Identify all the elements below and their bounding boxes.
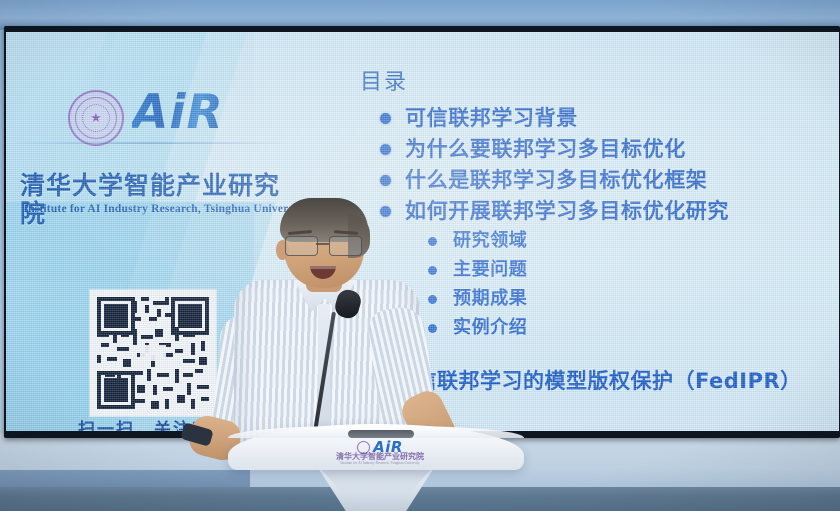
toc-item: 为什么要联邦学习多目标优化 (380, 135, 839, 163)
glasses-bridge (316, 243, 329, 245)
toc-item: 如何开展联邦学习多目标优化研究 (380, 197, 839, 225)
slide-final-line: 可信联邦学习的模型版权保护（FedIPR） (394, 366, 802, 396)
toc-subitem: 主要问题 (428, 257, 839, 283)
logo-divider-rule (12, 142, 288, 144)
qr-code (90, 290, 216, 416)
toc-subitem: 实例介绍 (428, 315, 839, 341)
toc-subitem-label: 主要问题 (453, 257, 527, 283)
podium-name-cn: 清华大学智能产业研究院 (324, 452, 436, 461)
toc-subitem-label: 预期成果 (453, 286, 527, 312)
toc-item-label: 为什么要联邦学习多目标优化 (405, 135, 686, 163)
qr-finder-bottom-left (97, 371, 135, 409)
toc-item-label: 可信联邦学习背景 (405, 104, 578, 132)
slide-title: 目录 (360, 70, 839, 96)
speaker-figure (232, 196, 422, 456)
bullet-icon (380, 113, 391, 124)
podium-device-slot (348, 430, 414, 438)
seal-star-icon: ★ (90, 111, 102, 124)
toc-subitem: 预期成果 (428, 286, 839, 312)
toc-item: 可信联邦学习背景 (380, 104, 839, 132)
toc-subitem: 研究领域 (428, 228, 839, 254)
tsinghua-seal-icon: ★ (68, 90, 124, 146)
speaker-glasses (284, 236, 364, 256)
qr-center-logo (140, 345, 166, 361)
podium-name-en: Institute for AI Industry Research, Tsin… (320, 461, 440, 466)
sub-bullet-icon (428, 324, 437, 333)
presentation-photo-scene: ★ AiR 清华大学智能产业研究院 Institute for AI Indus… (0, 0, 840, 511)
slide-toc: 目录 可信联邦学习背景 为什么要联邦学习多目标优化 什么是联邦学习多目标优化框架… (352, 70, 839, 344)
qr-module-grid (97, 297, 209, 409)
bullet-icon (380, 175, 391, 186)
bullet-icon (380, 144, 391, 155)
sub-bullet-icon (428, 237, 437, 246)
glasses-lens-right (329, 236, 362, 256)
qr-finder-top-left (97, 297, 135, 335)
sub-bullet-icon (428, 295, 437, 304)
toc-item-label: 什么是联邦学习多目标优化框架 (405, 166, 707, 194)
toc-subitem-label: 研究领域 (453, 228, 527, 254)
glasses-lens-left (285, 236, 318, 256)
air-wordmark: AiR (132, 86, 224, 140)
podium: AiR 清华大学智能产业研究院 Institute for AI Industr… (228, 424, 524, 511)
toc-item: 什么是联邦学习多目标优化框架 (380, 166, 839, 194)
air-logo-lockup: ★ AiR 清华大学智能产业研究院 Institute for AI Indus… (12, 56, 302, 206)
toc-item-label: 如何开展联邦学习多目标优化研究 (405, 197, 729, 225)
sub-bullet-icon (428, 266, 437, 275)
toc-subitem-label: 实例介绍 (453, 315, 527, 341)
